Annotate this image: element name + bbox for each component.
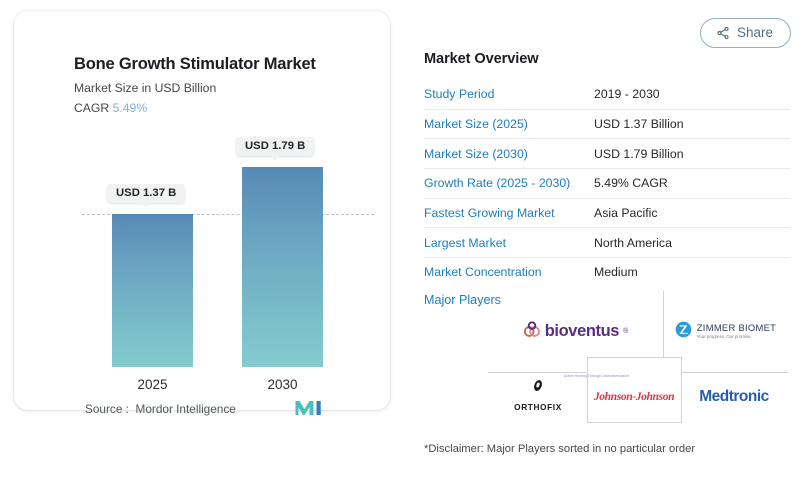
source-name: Mordor Intelligence [136, 402, 236, 416]
medtronic-wordmark: Medtronic [699, 388, 769, 406]
row-label: Market Concentration [424, 265, 594, 279]
bar-value-label-2030: USD 1.79 B [236, 137, 314, 156]
major-players-logo-grid: bioventus ® Active Healing Through Osteo… [488, 291, 788, 421]
source-label: Source : [85, 402, 129, 416]
zimmer-z-icon [675, 321, 692, 343]
bioventus-mark-icon [523, 321, 541, 343]
bar-value-label-2025: USD 1.37 B [107, 184, 185, 203]
row-label: Market Size (2025) [424, 117, 594, 131]
row-value: 2019 - 2030 [594, 87, 660, 101]
table-row: Growth Rate (2025 - 2030) 5.49% CAGR [424, 169, 790, 199]
orthofix-wordmark: ORTHOFIX [514, 402, 562, 412]
zimmer-tagline: Your progress. Our promise. [697, 335, 776, 340]
share-button[interactable]: Share [700, 18, 791, 48]
source-attribution: Source : Mordor Intelligence [85, 402, 236, 416]
orthofix-mark-icon [514, 379, 562, 397]
row-label: Growth Rate (2025 - 2030) [424, 176, 594, 190]
table-row: Fastest Growing Market Asia Pacific [424, 199, 790, 229]
table-row: Largest Market North America [424, 228, 790, 258]
row-value: North America [594, 236, 672, 250]
table-row: Market Size (2025) USD 1.37 Billion [424, 110, 790, 140]
table-row: Study Period 2019 - 2030 [424, 80, 790, 110]
logo-cell-zimmer-biomet[interactable]: ZIMMER BIOMET Your progress. Our promise… [663, 291, 788, 372]
row-value: USD 1.37 Billion [594, 117, 684, 131]
logo-cell-bioventus[interactable]: bioventus ® Active Healing Through Osteo… [488, 291, 663, 372]
registered-mark: ® [623, 328, 628, 335]
logo-cell-johnson-and-johnson[interactable]: Johnson-Johnson [588, 372, 680, 421]
chart-title: Bone Growth Stimulator Market [74, 55, 316, 74]
row-label: Fastest Growing Market [424, 206, 594, 220]
bioventus-wordmark: bioventus [545, 322, 619, 341]
x-axis-tick-2025: 2025 [112, 377, 193, 392]
cagr-value: 5.49% [113, 101, 148, 115]
mordor-intelligence-logo [295, 400, 325, 416]
bar-chart-plot: USD 1.37 B USD 1.79 B [74, 131, 374, 371]
market-snapshot-page: Share Bone Growth Stimulator Market Mark… [0, 0, 800, 482]
logo-row-bottom: ORTHOFIX Johnson-Johnson Medtronic [488, 372, 788, 421]
row-value: Asia Pacific [594, 206, 658, 220]
chart-card: Bone Growth Stimulator Market Market Siz… [14, 11, 390, 410]
row-label: Market Size (2030) [424, 147, 594, 161]
share-nodes-icon [716, 26, 730, 40]
x-axis-tick-2030: 2030 [242, 377, 323, 392]
bar-2030[interactable] [242, 167, 323, 367]
market-overview-title: Market Overview [424, 51, 539, 67]
zimmer-wordmark: ZIMMER BIOMET [697, 323, 776, 333]
market-overview-table: Study Period 2019 - 2030 Market Size (20… [424, 80, 790, 287]
row-label: Largest Market [424, 236, 594, 250]
johnson-and-johnson-wordmark: Johnson-Johnson [594, 390, 674, 403]
bar-2025[interactable] [112, 214, 193, 367]
logo-row-top: bioventus ® Active Healing Through Osteo… [488, 291, 788, 372]
row-value: Medium [594, 265, 638, 279]
players-disclaimer: *Disclaimer: Major Players sorted in no … [424, 443, 695, 455]
logo-cell-orthofix[interactable]: ORTHOFIX [488, 372, 588, 421]
table-row: Market Concentration Medium [424, 258, 790, 287]
logo-cell-medtronic[interactable]: Medtronic [680, 372, 788, 421]
chart-subtitle: Market Size in USD Billion [74, 81, 216, 95]
row-label: Study Period [424, 87, 594, 101]
row-value: 5.49% CAGR [594, 176, 668, 190]
chart-cagr: CAGR 5.49% [74, 101, 147, 115]
cagr-label: CAGR [74, 101, 109, 115]
row-value: USD 1.79 Billion [594, 147, 684, 161]
table-row: Market Size (2030) USD 1.79 Billion [424, 139, 790, 169]
share-button-label: Share [737, 25, 773, 40]
